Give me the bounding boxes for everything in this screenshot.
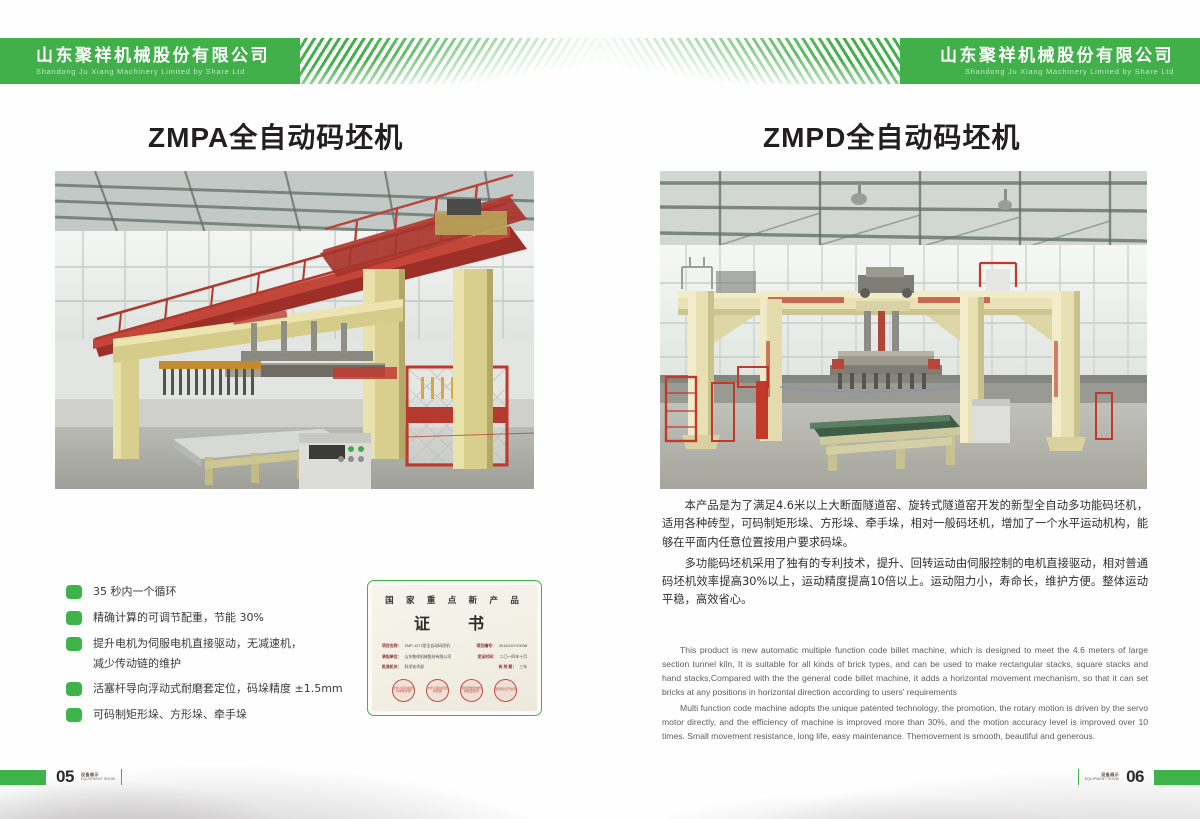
certificate-subheading: 证 书 (414, 610, 495, 634)
feature-label: 可码制矩形垛、方形垛、牵手垛 (93, 706, 247, 723)
certificate-field: 批准机关： 科学技术部 (382, 664, 424, 670)
footer-accent-bar (1154, 770, 1200, 785)
official-seal-icon: 国家知识产权局 (494, 679, 517, 702)
footer-meta-right: 设备展示 EQUIPMENT SHOW (1085, 772, 1119, 781)
certificate-field: 发证时间： 二〇一四年十月 (477, 654, 527, 660)
header-banner-right: 山东聚祥机械股份有限公司 Shandong Ju Xiang Machinery… (580, 38, 1200, 84)
brand-name-cn-left: 山东聚祥机械股份有限公司 (36, 46, 270, 66)
bullet-square-icon (66, 611, 82, 625)
brand-name-en-right: Shandong Ju Xiang Machinery Limited by S… (965, 67, 1174, 76)
brand-name-cn-right: 山东聚祥机械股份有限公司 (940, 46, 1174, 66)
feature-item: 精确计算的可调节配重，节能 30% (66, 609, 366, 626)
brand-name-en-left: Shandong Ju Xiang Machinery Limited by S… (36, 67, 245, 76)
page-number-left: 05 (56, 767, 74, 787)
feature-label: 35 秒内一个循环 (93, 583, 177, 600)
official-seal-icon: 中华人民共和国商务部 (426, 679, 449, 702)
bullet-square-icon (66, 637, 82, 651)
certificate-body: 国 家 重 点 新 产 品 证 书 项目名称： ZMP-1273型全自动码坯机 … (372, 585, 537, 711)
certificate-field: 项目编号： 2014GXXY0098 (476, 643, 527, 649)
feature-label: 精确计算的可调节配重，节能 30% (93, 609, 264, 626)
field-value: 三年 (519, 664, 527, 670)
feature-label: 活塞杆导向浮动式耐磨套定位，码垛精度 ±1.5mm (93, 680, 343, 697)
photo-left-illustration (55, 171, 534, 489)
footer-label-en: EQUIPMENT SHOW (1085, 777, 1119, 781)
footer-accent-bar (0, 770, 46, 785)
field-value: 二〇一四年十月 (500, 654, 527, 660)
field-label: 承担单位： (382, 654, 401, 660)
description-cn: 本产品是为了满足4.6米以上大断面隧道窑、旋转式隧道窑开发的新型全自动多功能码坯… (662, 497, 1148, 613)
certificate-seals: 中华人民共和国科学技术部 中华人民共和国商务部 国家质量监督检验检疫总局 国家知… (392, 679, 517, 702)
page-number-right: 06 (1126, 767, 1144, 787)
certificate-field-row: 批准机关： 科学技术部 有 效 期： 三年 (382, 664, 527, 670)
bullet-square-icon (66, 585, 82, 599)
official-seal-icon: 中华人民共和国科学技术部 (392, 679, 415, 702)
feature-continuation: 减少传动链的维护 (93, 655, 366, 671)
bullet-square-icon (66, 708, 82, 722)
paragraph-cn: 本产品是为了满足4.6米以上大断面隧道窑、旋转式隧道窑开发的新型全自动多功能码坯… (662, 497, 1148, 552)
feature-item: 35 秒内一个循环 (66, 583, 366, 600)
official-seal-icon: 国家质量监督检验检疫总局 (460, 679, 483, 702)
footer-right: 设备展示 EQUIPMENT SHOW 06 (1078, 767, 1200, 787)
product-title-right: ZMPD全自动码坯机 (763, 116, 1020, 156)
bullet-square-icon (66, 682, 82, 696)
footer-left: 05 设备展示 EQUIPMENT SHOW (0, 767, 122, 787)
feature-list: 35 秒内一个循环 精确计算的可调节配重，节能 30% 提升电机为伺服电机直接驱… (66, 583, 366, 732)
certificate-heading: 国 家 重 点 新 产 品 (385, 594, 524, 606)
footer-label-en: EQUIPMENT SHOW (81, 777, 115, 781)
field-label: 有 效 期： (498, 664, 516, 670)
footer-divider (1078, 769, 1079, 785)
paragraph-cn: 多功能码坯机采用了独有的专利技术，提升、回转运动由伺服控制的电机直接驱动，相对普… (662, 555, 1148, 610)
feature-item: 提升电机为伺服电机直接驱动，无减速机， (66, 635, 366, 652)
certificate-field-row: 项目名称： ZMP-1273型全自动码坯机 项目编号： 2014GXXY0098 (382, 643, 527, 649)
field-value: 山东聚祥机械股份有限公司 (404, 654, 451, 660)
field-label: 批准机关： (382, 664, 401, 670)
field-label: 发证时间： (477, 654, 496, 660)
footer-meta-left: 设备展示 EQUIPMENT SHOW (81, 772, 115, 781)
footer-divider (121, 769, 122, 785)
certificate-card: 国 家 重 点 新 产 品 证 书 项目名称： ZMP-1273型全自动码坯机 … (367, 580, 542, 716)
product-photo-left (55, 171, 534, 489)
certificate-field: 项目名称： ZMP-1273型全自动码坯机 (382, 643, 450, 649)
feature-item: 可码制矩形垛、方形垛、牵手垛 (66, 706, 366, 723)
description-en: This product is new automatic multiple f… (662, 643, 1148, 745)
field-value: ZMP-1273型全自动码坯机 (404, 643, 449, 649)
paragraph-en: This product is new automatic multiple f… (662, 643, 1148, 699)
field-value: 科学技术部 (404, 664, 423, 670)
brand-block-right: 山东聚祥机械股份有限公司 Shandong Ju Xiang Machinery… (940, 38, 1174, 84)
feature-item: 活塞杆导向浮动式耐磨套定位，码垛精度 ±1.5mm (66, 680, 366, 697)
photo-right-illustration (660, 171, 1147, 489)
certificate-field: 有 效 期： 三年 (498, 664, 527, 670)
certificate-field: 承担单位： 山东聚祥机械股份有限公司 (382, 654, 451, 660)
feature-label: 提升电机为伺服电机直接驱动，无减速机， (93, 635, 302, 652)
field-label: 项目名称： (382, 643, 401, 649)
brochure-spread: 山东聚祥机械股份有限公司 Shandong Ju Xiang Machinery… (0, 0, 1200, 819)
certificate-fields: 项目名称： ZMP-1273型全自动码坯机 项目编号： 2014GXXY0098… (372, 643, 537, 675)
product-title-left: ZMPA全自动码坯机 (148, 116, 403, 156)
banner-stripes-left (288, 38, 618, 84)
certificate-field-row: 承担单位： 山东聚祥机械股份有限公司 发证时间： 二〇一四年十月 (382, 654, 527, 660)
banner-stripes-right (582, 38, 912, 84)
field-label: 项目编号： (476, 643, 495, 649)
product-photo-right (660, 171, 1147, 489)
field-value: 2014GXXY0098 (499, 643, 527, 649)
paragraph-en: Multi function code machine adopts the u… (662, 701, 1148, 743)
brand-block-left: 山东聚祥机械股份有限公司 Shandong Ju Xiang Machinery… (36, 38, 270, 84)
header-banner-left: 山东聚祥机械股份有限公司 Shandong Ju Xiang Machinery… (0, 38, 620, 84)
